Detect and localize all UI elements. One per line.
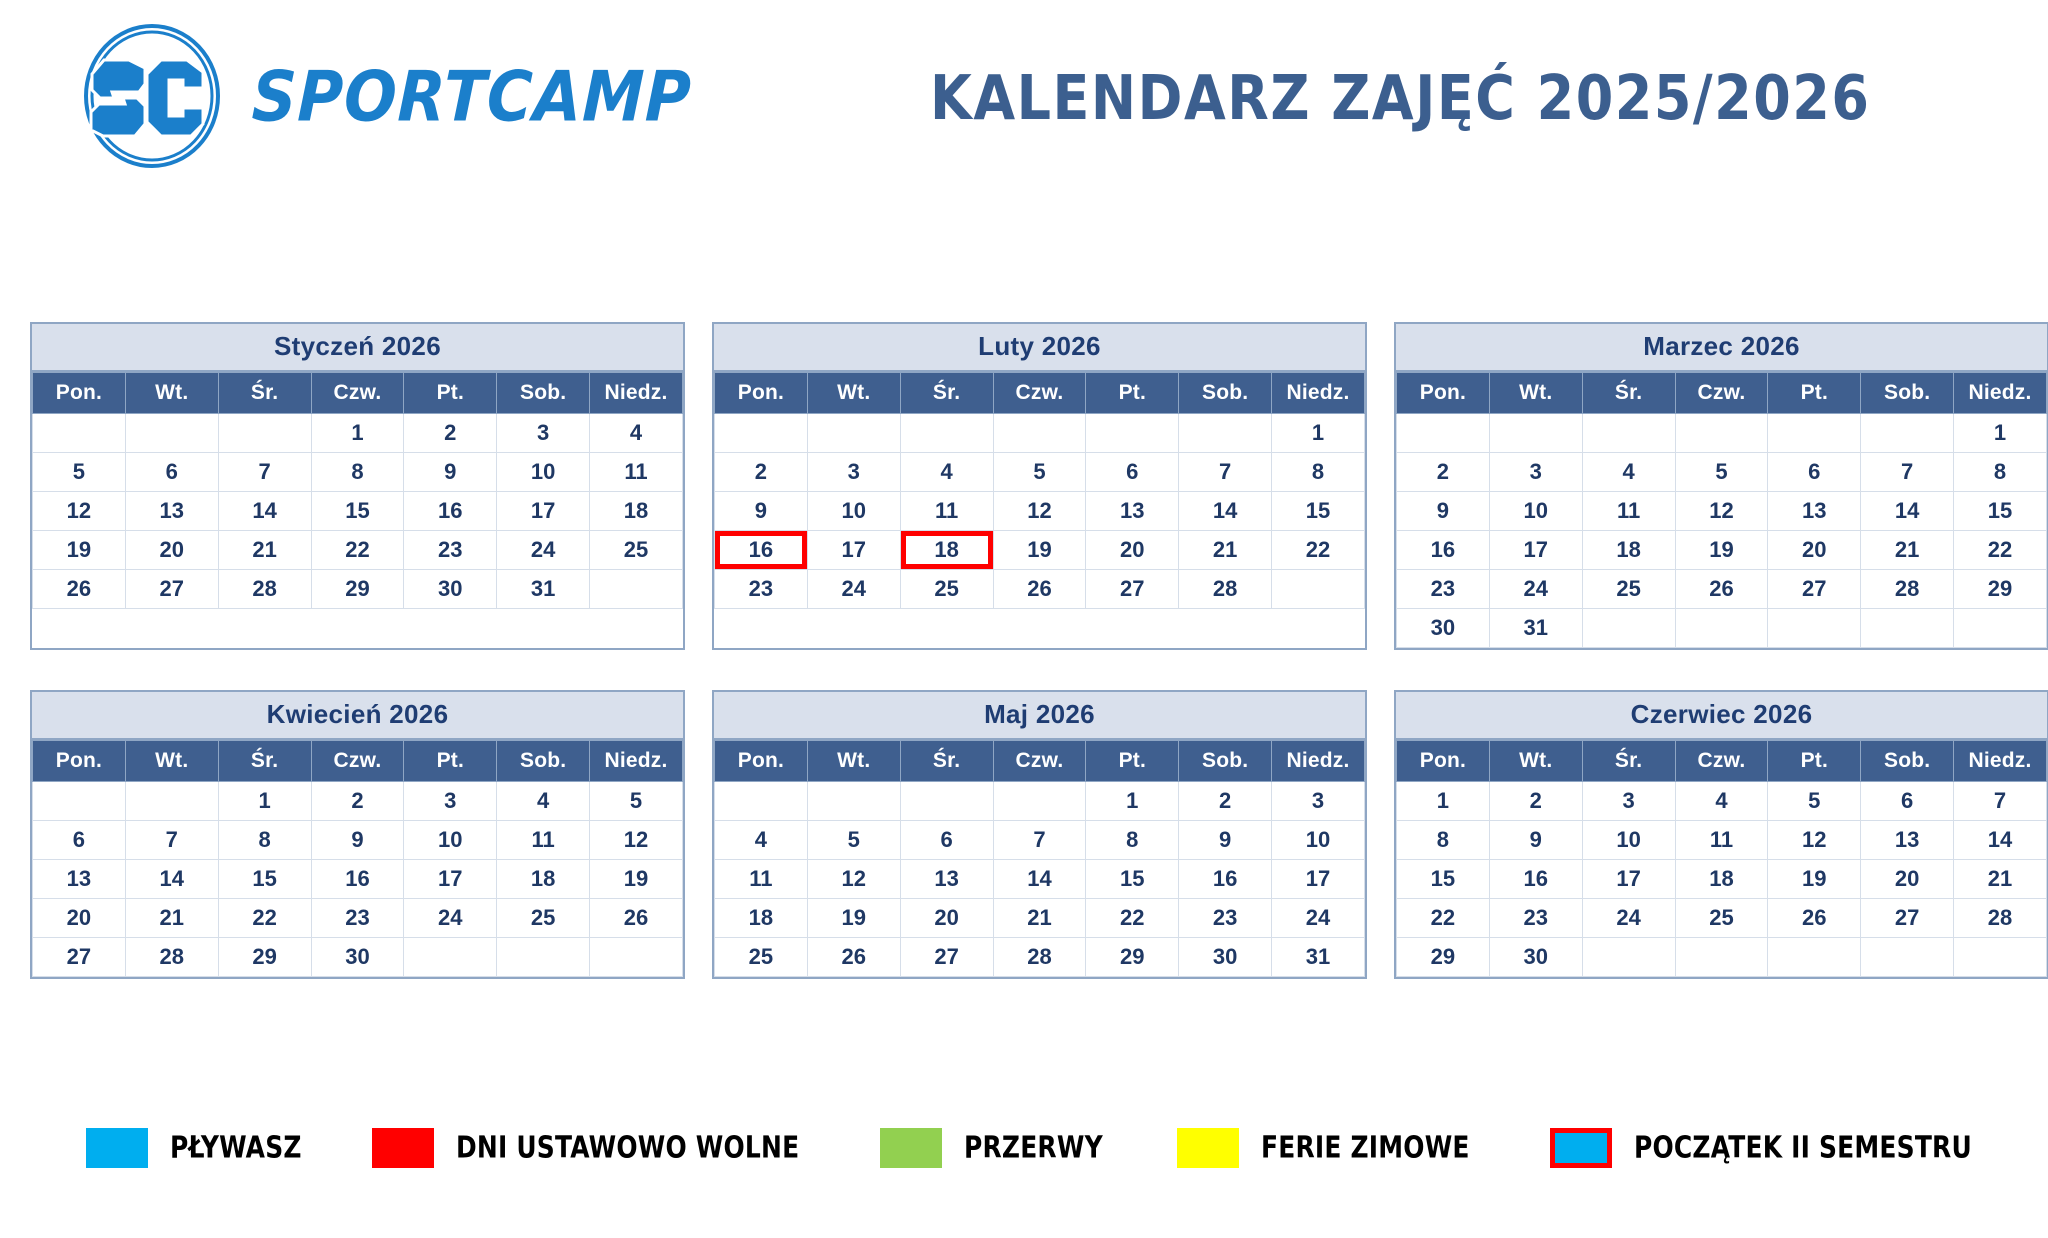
week-row: 45678910 [715, 821, 1365, 860]
day-cell[interactable]: 8 [1086, 821, 1179, 860]
day-cell[interactable]: 27 [1768, 570, 1861, 609]
month-table: Pon.Wt.Śr.Czw.Pt.Sob.Niedz.1234567891011… [1396, 740, 2047, 977]
day-cell[interactable]: 31 [1489, 609, 1582, 648]
day-cell[interactable]: 24 [497, 531, 590, 570]
weekday-header-1: Wt. [1489, 373, 1582, 414]
legend-label: POCZĄTEK II SEMESTRU [1634, 1130, 1972, 1165]
day-cell[interactable]: 2 [311, 782, 404, 821]
day-cell[interactable]: 19 [807, 899, 900, 938]
weekday-header-0: Pon. [33, 373, 126, 414]
weekday-header-2: Śr. [900, 373, 993, 414]
day-cell[interactable]: 19 [993, 531, 1086, 570]
day-cell[interactable]: 10 [1582, 821, 1675, 860]
day-cell[interactable]: 11 [590, 453, 683, 492]
day-cell[interactable]: 24 [1272, 899, 1365, 938]
day-cell[interactable]: 26 [993, 570, 1086, 609]
day-cell[interactable]: 2 [404, 414, 497, 453]
weekday-header-1: Wt. [807, 741, 900, 782]
day-cell[interactable]: 11 [715, 860, 808, 899]
day-cell[interactable]: 17 [1489, 531, 1582, 570]
weekday-header-3: Czw. [311, 373, 404, 414]
day-cell[interactable]: 14 [1954, 821, 2047, 860]
week-row: 9101112131415 [715, 492, 1365, 531]
day-cell[interactable]: 9 [715, 492, 808, 531]
day-cell[interactable]: 15 [218, 860, 311, 899]
day-cell[interactable]: 21 [218, 531, 311, 570]
day-cell[interactable]: 9 [1397, 492, 1490, 531]
day-cell[interactable]: 8 [1397, 821, 1490, 860]
day-cell[interactable]: 3 [1489, 453, 1582, 492]
day-cell[interactable]: 12 [993, 492, 1086, 531]
day-cell[interactable]: 22 [1086, 899, 1179, 938]
day-cell[interactable]: 13 [1086, 492, 1179, 531]
day-cell[interactable]: 1 [311, 414, 404, 453]
week-row: 19202122232425 [33, 531, 683, 570]
day-cell[interactable]: 13 [125, 492, 218, 531]
day-cell[interactable]: 14 [993, 860, 1086, 899]
weekday-header-4: Pt. [1768, 741, 1861, 782]
day-cell[interactable]: 6 [1086, 453, 1179, 492]
day-cell[interactable]: 3 [1582, 782, 1675, 821]
day-cell[interactable]: 29 [311, 570, 404, 609]
day-cell[interactable]: 8 [1954, 453, 2047, 492]
day-cell-empty [1086, 414, 1179, 453]
week-row: 15161718192021 [1397, 860, 2047, 899]
week-row: 9101112131415 [1397, 492, 2047, 531]
month-table: Pon.Wt.Śr.Czw.Pt.Sob.Niedz.1234567891011… [1396, 372, 2047, 648]
day-cell[interactable]: 23 [1397, 570, 1490, 609]
day-cell[interactable]: 2 [1179, 782, 1272, 821]
day-cell[interactable]: 10 [1489, 492, 1582, 531]
day-cell[interactable]: 11 [497, 821, 590, 860]
day-cell-empty [1954, 938, 2047, 977]
day-cell-empty [807, 782, 900, 821]
day-cell[interactable]: 20 [900, 899, 993, 938]
day-cell[interactable]: 20 [1861, 860, 1954, 899]
day-cell[interactable]: 19 [33, 531, 126, 570]
day-cell[interactable]: 4 [1582, 453, 1675, 492]
day-cell[interactable]: 5 [1675, 453, 1768, 492]
legend-item: DNI USTAWOWO WOLNE [372, 1128, 814, 1168]
day-cell[interactable]: 6 [900, 821, 993, 860]
day-cell[interactable]: 6 [125, 453, 218, 492]
day-cell[interactable]: 5 [807, 821, 900, 860]
weekday-header-2: Śr. [900, 741, 993, 782]
day-cell[interactable]: 21 [1954, 860, 2047, 899]
day-cell[interactable]: 31 [497, 570, 590, 609]
day-cell[interactable]: 21 [993, 899, 1086, 938]
day-cell-empty [1861, 609, 1954, 648]
day-cell-empty [1861, 414, 1954, 453]
day-cell[interactable]: 17 [807, 531, 900, 570]
day-cell[interactable]: 7 [218, 453, 311, 492]
weekday-header-5: Sob. [497, 373, 590, 414]
weekday-header-row: Pon.Wt.Śr.Czw.Pt.Sob.Niedz. [33, 741, 683, 782]
day-cell[interactable]: 7 [1861, 453, 1954, 492]
day-cell[interactable]: 12 [1675, 492, 1768, 531]
day-cell[interactable]: 10 [404, 821, 497, 860]
day-cell[interactable]: 14 [125, 860, 218, 899]
weekday-header-3: Czw. [993, 373, 1086, 414]
week-row: 1234 [33, 414, 683, 453]
week-row: 891011121314 [1397, 821, 2047, 860]
weekday-header-1: Wt. [807, 373, 900, 414]
day-cell[interactable]: 26 [1768, 899, 1861, 938]
day-cell[interactable]: 12 [33, 492, 126, 531]
day-cell[interactable]: 16 [1179, 860, 1272, 899]
day-cell[interactable]: 30 [1397, 609, 1490, 648]
day-cell[interactable]: 15 [1397, 860, 1490, 899]
day-cell[interactable]: 29 [1397, 938, 1490, 977]
calendar-grid: Styczeń 2026Pon.Wt.Śr.Czw.Pt.Sob.Niedz.1… [30, 322, 2020, 979]
day-cell[interactable]: 11 [1675, 821, 1768, 860]
weekday-header-2: Śr. [218, 741, 311, 782]
week-row: 16171819202122 [715, 531, 1365, 570]
day-cell[interactable]: 20 [1086, 531, 1179, 570]
day-cell[interactable]: 26 [1675, 570, 1768, 609]
day-cell-empty [993, 414, 1086, 453]
weekday-header-3: Czw. [1675, 741, 1768, 782]
legend-swatch-icon [372, 1128, 434, 1168]
weekday-header-row: Pon.Wt.Śr.Czw.Pt.Sob.Niedz. [33, 373, 683, 414]
day-cell[interactable]: 7 [1179, 453, 1272, 492]
day-cell[interactable]: 4 [1675, 782, 1768, 821]
month-calendar: Czerwiec 2026Pon.Wt.Śr.Czw.Pt.Sob.Niedz.… [1394, 690, 2048, 979]
day-cell-empty [33, 414, 126, 453]
day-cell[interactable]: 16 [1489, 860, 1582, 899]
day-cell[interactable]: 18 [715, 899, 808, 938]
day-cell[interactable]: 14 [1861, 492, 1954, 531]
day-cell-empty [993, 782, 1086, 821]
day-cell[interactable]: 25 [497, 899, 590, 938]
week-row: 1 [1397, 414, 2047, 453]
day-cell[interactable]: 4 [715, 821, 808, 860]
day-cell[interactable]: 22 [218, 899, 311, 938]
month-table: Pon.Wt.Śr.Czw.Pt.Sob.Niedz.1234567891011… [714, 372, 1365, 609]
legend-label: DNI USTAWOWO WOLNE [456, 1130, 799, 1165]
brand-logo: SPORTCAMP [78, 22, 692, 170]
day-cell[interactable]: 25 [1582, 570, 1675, 609]
day-cell[interactable]: 1 [218, 782, 311, 821]
weekday-header-5: Sob. [1179, 741, 1272, 782]
day-cell[interactable]: 29 [218, 938, 311, 977]
day-cell[interactable]: 9 [1179, 821, 1272, 860]
day-cell[interactable]: 27 [33, 938, 126, 977]
weekday-header-4: Pt. [404, 741, 497, 782]
month-calendar: Marzec 2026Pon.Wt.Śr.Czw.Pt.Sob.Niedz.12… [1394, 322, 2048, 650]
week-row: 232425262728 [715, 570, 1365, 609]
legend-item: PRZERWY [880, 1128, 1109, 1168]
day-cell-empty [1954, 609, 2047, 648]
day-cell[interactable]: 23 [715, 570, 808, 609]
legend-item: FERIE ZIMOWE [1177, 1128, 1478, 1168]
day-cell-empty [497, 938, 590, 977]
day-cell[interactable]: 15 [1272, 492, 1365, 531]
weekday-header-6: Niedz. [590, 373, 683, 414]
day-cell[interactable]: 27 [900, 938, 993, 977]
day-cell[interactable]: 29 [1954, 570, 2047, 609]
day-cell[interactable]: 1 [1397, 782, 1490, 821]
day-cell-empty [715, 414, 808, 453]
day-cell-empty [807, 414, 900, 453]
day-cell[interactable]: 26 [807, 938, 900, 977]
day-cell[interactable]: 19 [590, 860, 683, 899]
day-cell[interactable]: 24 [404, 899, 497, 938]
day-cell[interactable]: 2 [715, 453, 808, 492]
week-row: 18192021222324 [715, 899, 1365, 938]
day-cell-empty [404, 938, 497, 977]
month-title: Marzec 2026 [1396, 324, 2047, 372]
day-cell[interactable]: 30 [311, 938, 404, 977]
month-title: Czerwiec 2026 [1396, 692, 2047, 740]
day-cell[interactable]: 24 [1582, 899, 1675, 938]
day-cell[interactable]: 14 [1179, 492, 1272, 531]
week-row: 2345678 [1397, 453, 2047, 492]
weekday-header-3: Czw. [311, 741, 404, 782]
weekday-header-0: Pon. [715, 741, 808, 782]
day-cell[interactable]: 3 [807, 453, 900, 492]
weekday-header-5: Sob. [1179, 373, 1272, 414]
day-cell[interactable]: 9 [404, 453, 497, 492]
day-cell[interactable]: 25 [900, 570, 993, 609]
weekday-header-row: Pon.Wt.Śr.Czw.Pt.Sob.Niedz. [715, 373, 1365, 414]
day-cell[interactable]: 16 [1397, 531, 1490, 570]
day-cell[interactable]: 23 [1179, 899, 1272, 938]
brand-wordmark: SPORTCAMP [251, 55, 693, 137]
week-row: 3031 [1397, 609, 2047, 648]
weekday-header-row: Pon.Wt.Śr.Czw.Pt.Sob.Niedz. [1397, 741, 2047, 782]
weekday-header-0: Pon. [1397, 741, 1490, 782]
day-cell[interactable]: 8 [218, 821, 311, 860]
week-row: 12345 [33, 782, 683, 821]
legend: PŁYWASZDNI USTAWOWO WOLNEPRZERWYFERIE ZI… [86, 1128, 1986, 1168]
day-cell[interactable]: 25 [715, 938, 808, 977]
day-cell[interactable]: 20 [1768, 531, 1861, 570]
day-cell[interactable]: 28 [218, 570, 311, 609]
week-row: 11121314151617 [715, 860, 1365, 899]
day-cell[interactable]: 13 [1768, 492, 1861, 531]
day-cell[interactable]: 6 [33, 821, 126, 860]
day-cell-empty [1272, 570, 1365, 609]
month-table: Pon.Wt.Śr.Czw.Pt.Sob.Niedz.1234567891011… [714, 740, 1365, 977]
day-cell[interactable]: 24 [1489, 570, 1582, 609]
day-cell-empty [125, 414, 218, 453]
day-cell-empty [1675, 609, 1768, 648]
day-cell[interactable]: 18 [900, 531, 993, 570]
month-title: Kwiecień 2026 [32, 692, 683, 740]
day-cell[interactable]: 11 [1582, 492, 1675, 531]
day-cell-empty [125, 782, 218, 821]
day-cell[interactable]: 1 [1954, 414, 2047, 453]
day-cell[interactable]: 8 [311, 453, 404, 492]
day-cell-empty [590, 570, 683, 609]
day-cell[interactable]: 2 [1397, 453, 1490, 492]
day-cell[interactable]: 16 [404, 492, 497, 531]
legend-item: POCZĄTEK II SEMESTRU [1550, 1128, 1986, 1168]
day-cell-empty [590, 938, 683, 977]
weekday-header-6: Niedz. [1272, 741, 1365, 782]
day-cell[interactable]: 15 [1086, 860, 1179, 899]
day-cell[interactable]: 3 [1272, 782, 1365, 821]
day-cell[interactable]: 1 [1272, 414, 1365, 453]
day-cell[interactable]: 5 [33, 453, 126, 492]
page-title: KALENDARZ ZAJĘĆ 2025/2026 [930, 62, 1870, 134]
day-cell[interactable]: 10 [1272, 821, 1365, 860]
legend-label: PŁYWASZ [170, 1130, 302, 1165]
day-cell[interactable]: 22 [1397, 899, 1490, 938]
day-cell[interactable]: 28 [993, 938, 1086, 977]
day-cell[interactable]: 30 [1179, 938, 1272, 977]
day-cell-empty [900, 414, 993, 453]
day-cell[interactable]: 30 [1489, 938, 1582, 977]
sportcamp-logo-icon [78, 22, 226, 170]
day-cell[interactable]: 11 [900, 492, 993, 531]
day-cell[interactable]: 18 [590, 492, 683, 531]
day-cell[interactable]: 7 [1954, 782, 2047, 821]
weekday-header-5: Sob. [497, 741, 590, 782]
day-cell[interactable]: 8 [1272, 453, 1365, 492]
day-cell[interactable]: 20 [125, 531, 218, 570]
day-cell[interactable]: 14 [218, 492, 311, 531]
day-cell[interactable]: 21 [1179, 531, 1272, 570]
day-cell[interactable]: 31 [1272, 938, 1365, 977]
day-cell-empty [1675, 938, 1768, 977]
day-cell[interactable]: 22 [1954, 531, 2047, 570]
week-row: 12131415161718 [33, 492, 683, 531]
day-cell[interactable]: 12 [590, 821, 683, 860]
day-cell[interactable]: 6 [1768, 453, 1861, 492]
day-cell[interactable]: 12 [807, 860, 900, 899]
day-cell[interactable]: 26 [33, 570, 126, 609]
day-cell[interactable]: 1 [1086, 782, 1179, 821]
week-row: 123 [715, 782, 1365, 821]
day-cell[interactable]: 9 [1489, 821, 1582, 860]
day-cell[interactable]: 10 [497, 453, 590, 492]
day-cell[interactable]: 25 [1675, 899, 1768, 938]
day-cell[interactable]: 13 [900, 860, 993, 899]
weekday-header-4: Pt. [1768, 373, 1861, 414]
day-cell[interactable]: 16 [715, 531, 808, 570]
week-row: 2345678 [715, 453, 1365, 492]
day-cell[interactable]: 28 [1954, 899, 2047, 938]
day-cell-empty [1768, 938, 1861, 977]
day-cell[interactable]: 26 [590, 899, 683, 938]
day-cell[interactable]: 15 [311, 492, 404, 531]
day-cell[interactable]: 3 [404, 782, 497, 821]
day-cell[interactable]: 5 [590, 782, 683, 821]
day-cell[interactable]: 4 [590, 414, 683, 453]
day-cell-empty [715, 782, 808, 821]
day-cell[interactable]: 20 [33, 899, 126, 938]
day-cell[interactable]: 28 [125, 938, 218, 977]
day-cell-empty [900, 782, 993, 821]
week-row: 262728293031 [33, 570, 683, 609]
legend-label: PRZERWY [964, 1130, 1103, 1165]
weekday-header-4: Pt. [1086, 741, 1179, 782]
day-cell[interactable]: 22 [1272, 531, 1365, 570]
weekday-header-3: Czw. [1675, 373, 1768, 414]
legend-label: FERIE ZIMOWE [1261, 1130, 1470, 1165]
month-calendar: Kwiecień 2026Pon.Wt.Śr.Czw.Pt.Sob.Niedz.… [30, 690, 685, 979]
day-cell-empty [1675, 414, 1768, 453]
day-cell[interactable]: 16 [311, 860, 404, 899]
day-cell[interactable]: 24 [807, 570, 900, 609]
day-cell[interactable]: 18 [497, 860, 590, 899]
day-cell[interactable]: 28 [1179, 570, 1272, 609]
day-cell[interactable]: 13 [1861, 821, 1954, 860]
day-cell[interactable]: 28 [1861, 570, 1954, 609]
day-cell-empty [1582, 938, 1675, 977]
day-cell[interactable]: 29 [1086, 938, 1179, 977]
day-cell[interactable]: 7 [993, 821, 1086, 860]
week-row: 27282930 [33, 938, 683, 977]
week-row: 1234567 [1397, 782, 2047, 821]
day-cell[interactable]: 7 [125, 821, 218, 860]
day-cell[interactable]: 3 [497, 414, 590, 453]
legend-swatch-icon [880, 1128, 942, 1168]
month-title: Luty 2026 [714, 324, 1365, 372]
week-row: 22232425262728 [1397, 899, 2047, 938]
day-cell[interactable]: 13 [33, 860, 126, 899]
weekday-header-2: Śr. [1582, 373, 1675, 414]
day-cell[interactable]: 4 [900, 453, 993, 492]
weekday-header-row: Pon.Wt.Śr.Czw.Pt.Sob.Niedz. [715, 741, 1365, 782]
day-cell[interactable]: 4 [497, 782, 590, 821]
day-cell[interactable]: 6 [1861, 782, 1954, 821]
month-table: Pon.Wt.Śr.Czw.Pt.Sob.Niedz.1234567891011… [32, 372, 683, 609]
day-cell[interactable]: 27 [125, 570, 218, 609]
day-cell[interactable]: 23 [404, 531, 497, 570]
day-cell[interactable]: 18 [1675, 860, 1768, 899]
weekday-header-0: Pon. [1397, 373, 1490, 414]
day-cell[interactable]: 19 [1675, 531, 1768, 570]
day-cell[interactable]: 22 [311, 531, 404, 570]
day-cell[interactable]: 9 [311, 821, 404, 860]
day-cell[interactable]: 2 [1489, 782, 1582, 821]
day-cell[interactable]: 21 [1861, 531, 1954, 570]
day-cell[interactable]: 27 [1086, 570, 1179, 609]
day-cell[interactable]: 27 [1861, 899, 1954, 938]
day-cell[interactable]: 30 [404, 570, 497, 609]
day-cell[interactable]: 25 [590, 531, 683, 570]
day-cell-empty [1861, 938, 1954, 977]
day-cell[interactable]: 12 [1768, 821, 1861, 860]
day-cell[interactable]: 15 [1954, 492, 2047, 531]
legend-swatch-icon [1550, 1128, 1612, 1168]
day-cell[interactable]: 17 [1582, 860, 1675, 899]
day-cell[interactable]: 17 [497, 492, 590, 531]
weekday-header-1: Wt. [125, 741, 218, 782]
weekday-header-5: Sob. [1861, 741, 1954, 782]
legend-swatch-icon [1177, 1128, 1239, 1168]
day-cell[interactable]: 23 [311, 899, 404, 938]
day-cell[interactable]: 17 [1272, 860, 1365, 899]
week-row: 567891011 [33, 453, 683, 492]
day-cell[interactable]: 5 [993, 453, 1086, 492]
page-header: SPORTCAMP KALENDARZ ZAJĘĆ 2025/2026 [0, 0, 2048, 200]
day-cell[interactable]: 18 [1582, 531, 1675, 570]
day-cell[interactable]: 5 [1768, 782, 1861, 821]
day-cell[interactable]: 17 [404, 860, 497, 899]
day-cell[interactable]: 21 [125, 899, 218, 938]
day-cell[interactable]: 19 [1768, 860, 1861, 899]
day-cell[interactable]: 23 [1489, 899, 1582, 938]
day-cell-empty [1768, 609, 1861, 648]
weekday-header-4: Pt. [1086, 373, 1179, 414]
day-cell-empty [1179, 414, 1272, 453]
month-table: Pon.Wt.Śr.Czw.Pt.Sob.Niedz.1234567891011… [32, 740, 683, 977]
day-cell[interactable]: 10 [807, 492, 900, 531]
